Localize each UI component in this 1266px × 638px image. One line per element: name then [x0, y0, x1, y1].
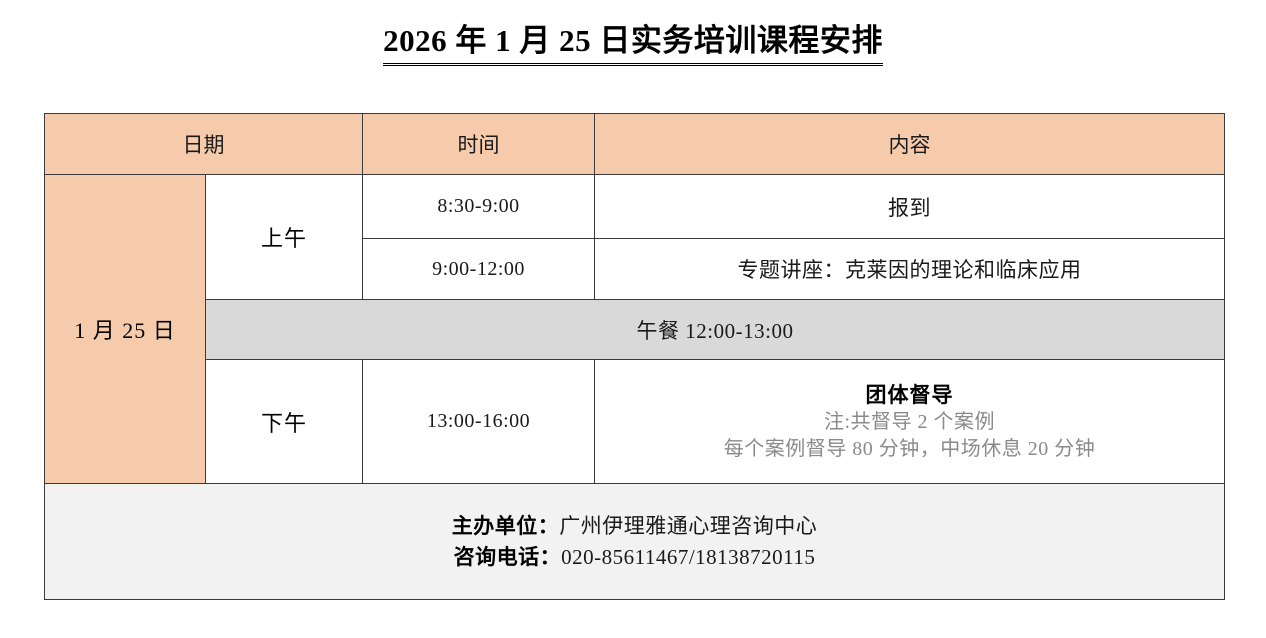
phone-value: 020-85611467/18138720115 — [561, 545, 815, 569]
content-cell-supervision: 团体督导 注:共督导 2 个案例 每个案例督导 80 分钟，中场休息 20 分钟 — [595, 360, 1225, 484]
schedule-page: 2026 年 1 月 25 日实务培训课程安排 日期 时间 内容 1 月 25 … — [0, 0, 1266, 638]
supervision-block: 团体督导 注:共督导 2 个案例 每个案例督导 80 分钟，中场休息 20 分钟 — [595, 381, 1224, 463]
header-row: 日期 时间 内容 — [45, 114, 1225, 175]
page-title-container: 2026 年 1 月 25 日实务培训课程安排 — [0, 22, 1266, 66]
content-cell: 报到 — [595, 175, 1225, 239]
table-row: 1 月 25 日 上午 8:30-9:00 报到 — [45, 175, 1225, 239]
header-cell-date: 日期 — [45, 114, 363, 175]
time-cell: 8:30-9:00 — [363, 175, 595, 239]
period-cell-afternoon: 下午 — [206, 360, 363, 484]
period-cell-morning: 上午 — [206, 175, 363, 300]
phone-label: 咨询电话： — [454, 545, 562, 569]
page-title: 2026 年 1 月 25 日实务培训课程安排 — [383, 22, 883, 66]
organizer-value: 广州伊理雅通心理咨询中心 — [559, 514, 817, 538]
supervision-note-line-2: 每个案例督导 80 分钟，中场休息 20 分钟 — [595, 436, 1224, 463]
header-cell-time: 时间 — [363, 114, 595, 175]
organizer-label: 主办单位： — [452, 514, 560, 538]
phone-line: 咨询电话：020-85611467/18138720115 — [45, 542, 1224, 572]
training-schedule-table: 日期 时间 内容 1 月 25 日 上午 8:30-9:00 报到 9:00-1… — [44, 113, 1225, 600]
content-cell: 专题讲座：克莱因的理论和临床应用 — [595, 239, 1225, 300]
table-row: 下午 13:00-16:00 团体督导 注:共督导 2 个案例 每个案例督导 8… — [45, 360, 1225, 484]
lunch-cell: 午餐 12:00-13:00 — [206, 300, 1225, 360]
supervision-note-line-1: 注:共督导 2 个案例 — [595, 409, 1224, 436]
table-row-footer: 主办单位：广州伊理雅通心理咨询中心 咨询电话：020-85611467/1813… — [45, 484, 1225, 600]
table-header: 日期 时间 内容 — [45, 114, 1225, 175]
table-body: 1 月 25 日 上午 8:30-9:00 报到 9:00-12:00 专题讲座… — [45, 175, 1225, 600]
supervision-title: 团体督导 — [595, 381, 1224, 409]
table-row-lunch: 午餐 12:00-13:00 — [45, 300, 1225, 360]
organizer-line: 主办单位：广州伊理雅通心理咨询中心 — [45, 511, 1224, 541]
time-cell: 9:00-12:00 — [363, 239, 595, 300]
time-cell: 13:00-16:00 — [363, 360, 595, 484]
footer-block: 主办单位：广州伊理雅通心理咨询中心 咨询电话：020-85611467/1813… — [45, 511, 1224, 572]
date-cell: 1 月 25 日 — [45, 175, 206, 484]
header-cell-content: 内容 — [595, 114, 1225, 175]
footer-cell: 主办单位：广州伊理雅通心理咨询中心 咨询电话：020-85611467/1813… — [45, 484, 1225, 600]
